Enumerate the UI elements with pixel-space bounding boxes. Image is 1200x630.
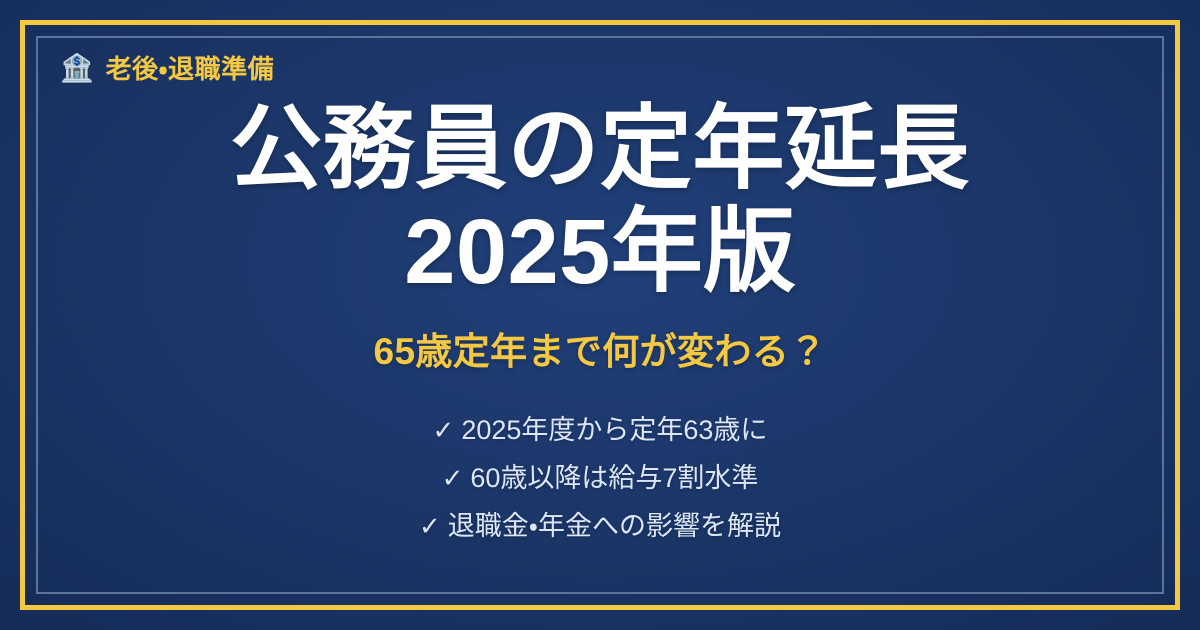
title-line-2: 2025年版 xyxy=(230,201,970,304)
list-item: ✓ 退職金・年金への影響を解説 xyxy=(419,510,781,544)
bullet-list: ✓ 2025年度から定年63歳に ✓ 60歳以降は給与7割水準 ✓ 退職金・年金… xyxy=(419,414,781,543)
list-item: ✓ 2025年度から定年63歳に xyxy=(433,414,768,448)
check-icon: ✓ xyxy=(419,510,441,543)
page-subtitle: 65歳定年まで何が変わる？ xyxy=(374,330,827,374)
card-content: 🏦 老後・退職準備 公務員の定年延長 2025年版 65歳定年まで何が変わる？ … xyxy=(36,36,1164,594)
ogp-card: 🏦 老後・退職準備 公務員の定年延長 2025年版 65歳定年まで何が変わる？ … xyxy=(0,0,1200,630)
list-item: ✓ 60歳以降は給与7割水準 xyxy=(442,462,759,496)
list-item-label: 2025年度から定年63歳に xyxy=(461,414,767,448)
list-item-label: 退職金・年金への影響を解説 xyxy=(448,510,781,544)
check-icon: ✓ xyxy=(433,414,455,447)
check-icon: ✓ xyxy=(442,462,464,495)
page-title: 公務員の定年延長 2025年版 xyxy=(230,98,970,304)
title-line-1: 公務員の定年延長 xyxy=(230,98,970,201)
bank-icon: 🏦 xyxy=(60,55,94,82)
hero-section: 公務員の定年延長 2025年版 65歳定年まで何が変わる？ ✓ 2025年度から… xyxy=(36,80,1164,594)
category-label: 老後・退職準備 xyxy=(106,56,274,82)
category-badge: 🏦 老後・退職準備 xyxy=(36,36,1164,80)
list-item-label: 60歳以降は給与7割水準 xyxy=(470,462,758,496)
